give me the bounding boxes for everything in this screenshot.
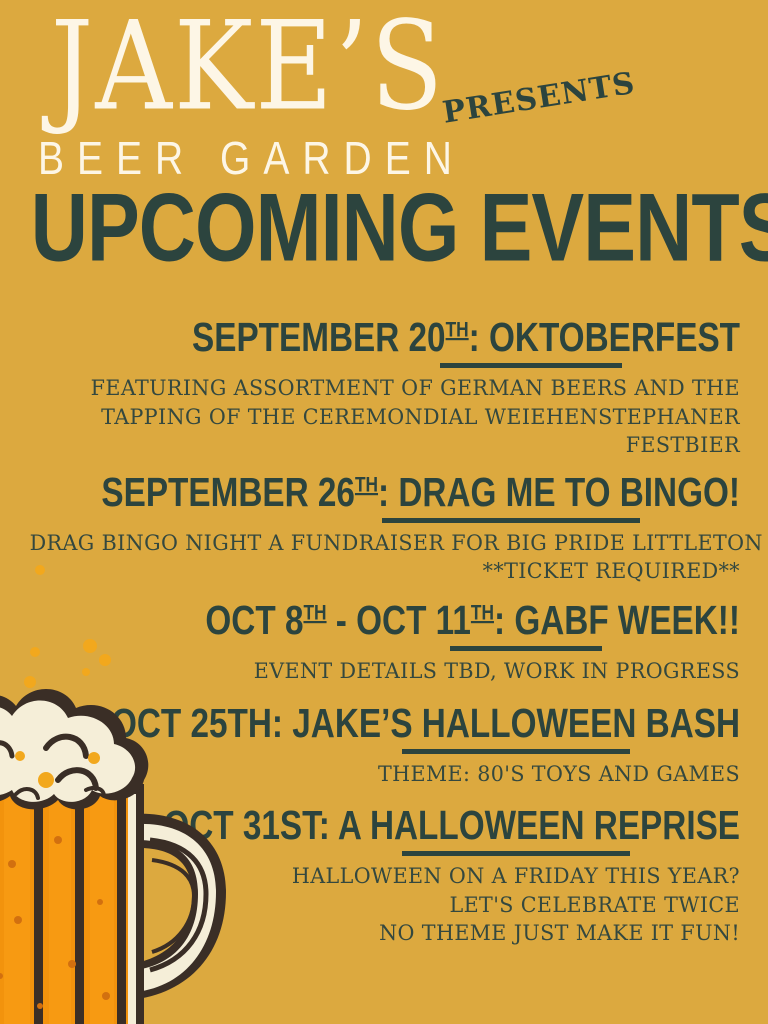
event-title-drag-me-to-bingo: SEPTEMBER 26TH: DRAG ME TO BINGO! <box>74 471 740 515</box>
event-description-line: FESTBIER <box>30 432 740 461</box>
ordinal-suffix: TH <box>355 474 378 497</box>
event-description-line: TAPPING OF THE CEREMONDIAL WEIEHENSTEPHA… <box>30 404 740 433</box>
event-description: EVENT DETAILS TBD, WORK IN PROGRESS <box>30 658 740 687</box>
event-item: OCT 25TH: JAKE’S HALLOWEEN BASHTHEME: 80… <box>0 702 740 790</box>
poster-header: JAKE’S BEER GARDEN PRESENTS <box>0 0 768 190</box>
event-title-a-halloween-reprise: OCT 31ST: A HALLOWEEN REPRISE <box>74 804 740 848</box>
event-divider <box>382 518 640 523</box>
event-description-line: LET'S CELEBRATE TWICE <box>30 892 740 921</box>
brand-logo: JAKE’S BEER GARDEN <box>38 8 458 178</box>
event-item: OCT 8TH - OCT 11TH: GABF WEEK!!EVENT DET… <box>0 599 740 687</box>
event-divider <box>402 749 630 754</box>
brand-logo-line1: JAKE’S <box>34 8 462 126</box>
event-poster: JAKE’S BEER GARDEN PRESENTS UPCOMING EVE… <box>0 0 768 1024</box>
event-item: SEPTEMBER 26TH: DRAG ME TO BINGO!DRAG BI… <box>0 471 740 587</box>
event-description: DRAG BINGO NIGHT A FUNDRAISER FOR BIG PR… <box>30 530 740 587</box>
event-description: HALLOWEEN ON A FRIDAY THIS YEAR?LET'S CE… <box>30 863 740 949</box>
page-title: UPCOMING EVENTS <box>31 180 738 276</box>
event-description-line: HALLOWEEN ON A FRIDAY THIS YEAR? <box>30 863 740 892</box>
presents-label: PRESENTS <box>440 66 637 131</box>
event-description-line: **TICKET REQUIRED** <box>30 558 740 587</box>
event-title-gabf-week: OCT 8TH - OCT 11TH: GABF WEEK!! <box>74 599 740 643</box>
event-description-line: EVENT DETAILS TBD, WORK IN PROGRESS <box>30 658 740 687</box>
event-item: SEPTEMBER 20TH: OKTOBERFESTFEATURING ASS… <box>0 316 740 461</box>
event-divider <box>402 851 630 856</box>
event-divider <box>450 646 602 651</box>
ordinal-suffix: TH <box>446 319 469 342</box>
event-title-jakes-halloween-bash: OCT 25TH: JAKE’S HALLOWEEN BASH <box>74 702 740 746</box>
ordinal-suffix: TH <box>303 602 326 625</box>
event-description-line: FEATURING ASSORTMENT OF GERMAN BEERS AND… <box>30 375 740 404</box>
event-description-line: THEME: 80'S TOYS AND GAMES <box>30 761 740 790</box>
event-description-line: DRAG BINGO NIGHT A FUNDRAISER FOR BIG PR… <box>30 530 740 559</box>
event-description-line: NO THEME JUST MAKE IT FUN! <box>30 920 740 949</box>
event-description: FEATURING ASSORTMENT OF GERMAN BEERS AND… <box>30 375 740 461</box>
event-divider <box>440 363 622 368</box>
ordinal-suffix: TH <box>471 602 494 625</box>
event-title-oktoberfest: SEPTEMBER 20TH: OKTOBERFEST <box>74 316 740 360</box>
event-item: OCT 31ST: A HALLOWEEN REPRISEHALLOWEEN O… <box>0 804 740 949</box>
event-description: THEME: 80'S TOYS AND GAMES <box>30 761 740 790</box>
events-list: SEPTEMBER 20TH: OKTOBERFESTFEATURING ASS… <box>0 316 768 955</box>
